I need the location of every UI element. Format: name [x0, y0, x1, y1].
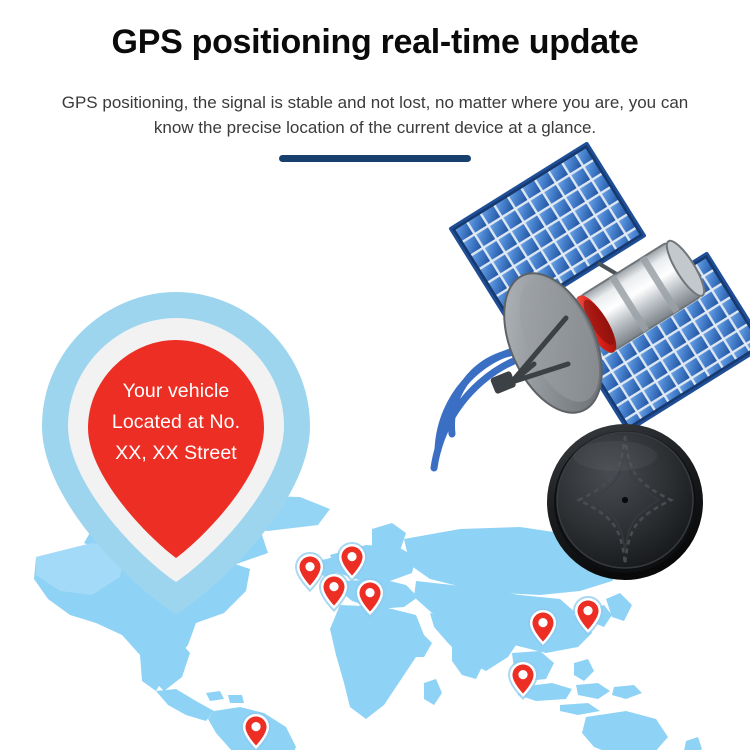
page-title: GPS positioning real-time update — [0, 24, 750, 61]
page-subtitle: GPS positioning, the signal is stable an… — [55, 91, 695, 140]
map-pin-southeast-asia[interactable] — [506, 658, 540, 702]
vehicle-location-callout[interactable]: Your vehicle Located at No. XX, XX Stree… — [26, 288, 326, 618]
map-pin-japan[interactable] — [571, 594, 605, 638]
infographic-stage: GPS positioning real-time update GPS pos… — [0, 0, 750, 750]
gps-satellite — [448, 168, 728, 418]
map-pin-china[interactable] — [526, 606, 560, 650]
map-pin-south-america[interactable] — [239, 710, 273, 750]
gps-tracker-puck[interactable] — [545, 422, 705, 582]
map-pin-southern-europe[interactable] — [353, 576, 387, 620]
header-divider — [279, 155, 471, 162]
